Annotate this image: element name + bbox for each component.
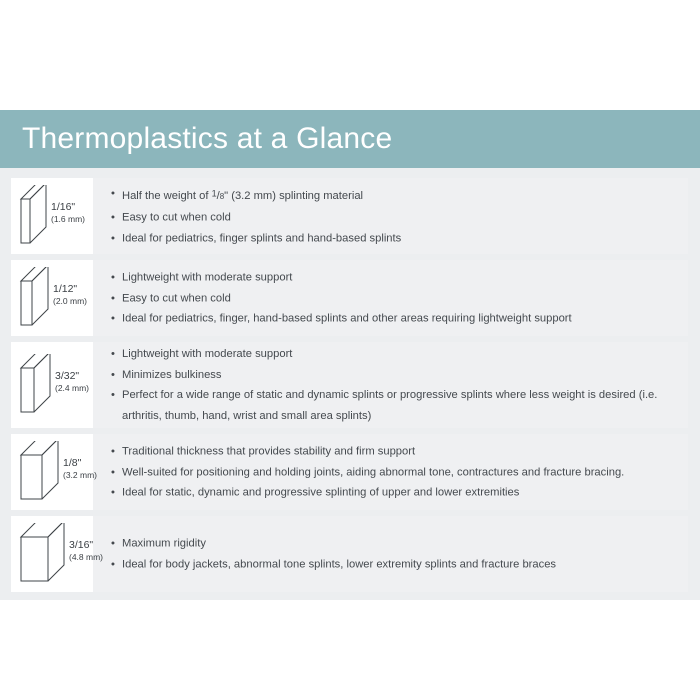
thickness-metric: (2.0 mm)	[53, 295, 87, 307]
icon-box: 1/16"(1.6 mm)	[11, 178, 93, 254]
thickness-imperial: 1/12"	[53, 283, 87, 295]
thickness-label: 1/8"(3.2 mm)	[63, 457, 97, 481]
thickness-row: 3/16"(4.8 mm)Maximum rigidityIdeal for b…	[11, 516, 688, 592]
bullet-item: Traditional thickness that provides stab…	[111, 441, 678, 462]
row-content: Maximum rigidityIdeal for body jackets, …	[93, 516, 688, 592]
bullet-list: Traditional thickness that provides stab…	[111, 441, 678, 503]
thermoplastic-prism-3-16-icon	[15, 523, 77, 585]
row-content: Half the weight of 1/8" (3.2 mm) splinti…	[93, 178, 688, 254]
prism-figure: 3/16"(4.8 mm)	[11, 523, 93, 585]
row-content: Lightweight with moderate supportMinimiz…	[93, 342, 688, 428]
thickness-row: 3/32"(2.4 mm)Lightweight with moderate s…	[11, 342, 688, 428]
prism-figure: 1/12"(2.0 mm)	[11, 267, 93, 329]
thickness-label: 1/12"(2.0 mm)	[53, 283, 87, 307]
thermoplastics-panel: Thermoplastics at a Glance 1/16"(1.6 mm)…	[0, 110, 700, 600]
thickness-metric: (2.4 mm)	[55, 382, 89, 394]
bullet-item: Easy to cut when cold	[111, 208, 678, 229]
thickness-metric: (1.6 mm)	[51, 213, 85, 225]
prism-figure: 3/32"(2.4 mm)	[11, 354, 93, 416]
thickness-label: 3/32"(2.4 mm)	[55, 370, 89, 394]
prism-figure: 1/8"(3.2 mm)	[11, 441, 93, 503]
row-content: Traditional thickness that provides stab…	[93, 434, 688, 510]
thickness-row: 1/12"(2.0 mm)Lightweight with moderate s…	[11, 260, 688, 336]
panel-header: Thermoplastics at a Glance	[0, 110, 700, 168]
icon-box: 3/32"(2.4 mm)	[11, 342, 93, 428]
thickness-imperial: 3/32"	[55, 370, 89, 382]
bullet-list: Lightweight with moderate supportMinimiz…	[111, 344, 678, 426]
icon-box: 1/8"(3.2 mm)	[11, 434, 93, 510]
bullet-item: Lightweight with moderate support	[111, 267, 678, 288]
bullet-list: Maximum rigidityIdeal for body jackets, …	[111, 534, 678, 575]
row-content: Lightweight with moderate supportEasy to…	[93, 260, 688, 336]
thickness-imperial: 1/16"	[51, 201, 85, 213]
thickness-row: 1/8"(3.2 mm)Traditional thickness that p…	[11, 434, 688, 510]
bullet-list: Lightweight with moderate supportEasy to…	[111, 267, 678, 329]
thickness-label: 1/16"(1.6 mm)	[51, 201, 85, 225]
bullet-item: Easy to cut when cold	[111, 288, 678, 309]
thickness-row: 1/16"(1.6 mm)Half the weight of 1/8" (3.…	[11, 178, 688, 254]
bullet-item: Maximum rigidity	[111, 534, 678, 555]
bullet-item: Perfect for a wide range of static and d…	[111, 385, 678, 426]
bullet-item: Ideal for pediatrics, finger splints and…	[111, 228, 678, 249]
icon-box: 3/16"(4.8 mm)	[11, 516, 93, 592]
icon-box: 1/12"(2.0 mm)	[11, 260, 93, 336]
thickness-metric: (3.2 mm)	[63, 469, 97, 481]
prism-figure: 1/16"(1.6 mm)	[11, 185, 93, 247]
bullet-item: Ideal for pediatrics, finger, hand-based…	[111, 308, 678, 329]
bullet-list: Half the weight of 1/8" (3.2 mm) splinti…	[111, 183, 678, 248]
bullet-item: Ideal for body jackets, abnormal tone sp…	[111, 554, 678, 575]
bullet-item: Lightweight with moderate support	[111, 344, 678, 365]
bullet-item: Ideal for static, dynamic and progressiv…	[111, 482, 678, 503]
thickness-imperial: 1/8"	[63, 457, 97, 469]
page-title: Thermoplastics at a Glance	[22, 121, 392, 157]
bullet-item: Half the weight of 1/8" (3.2 mm) splinti…	[111, 183, 678, 207]
bullet-item: Well-suited for positioning and holding …	[111, 462, 678, 483]
bullet-item: Minimizes bulkiness	[111, 365, 678, 386]
